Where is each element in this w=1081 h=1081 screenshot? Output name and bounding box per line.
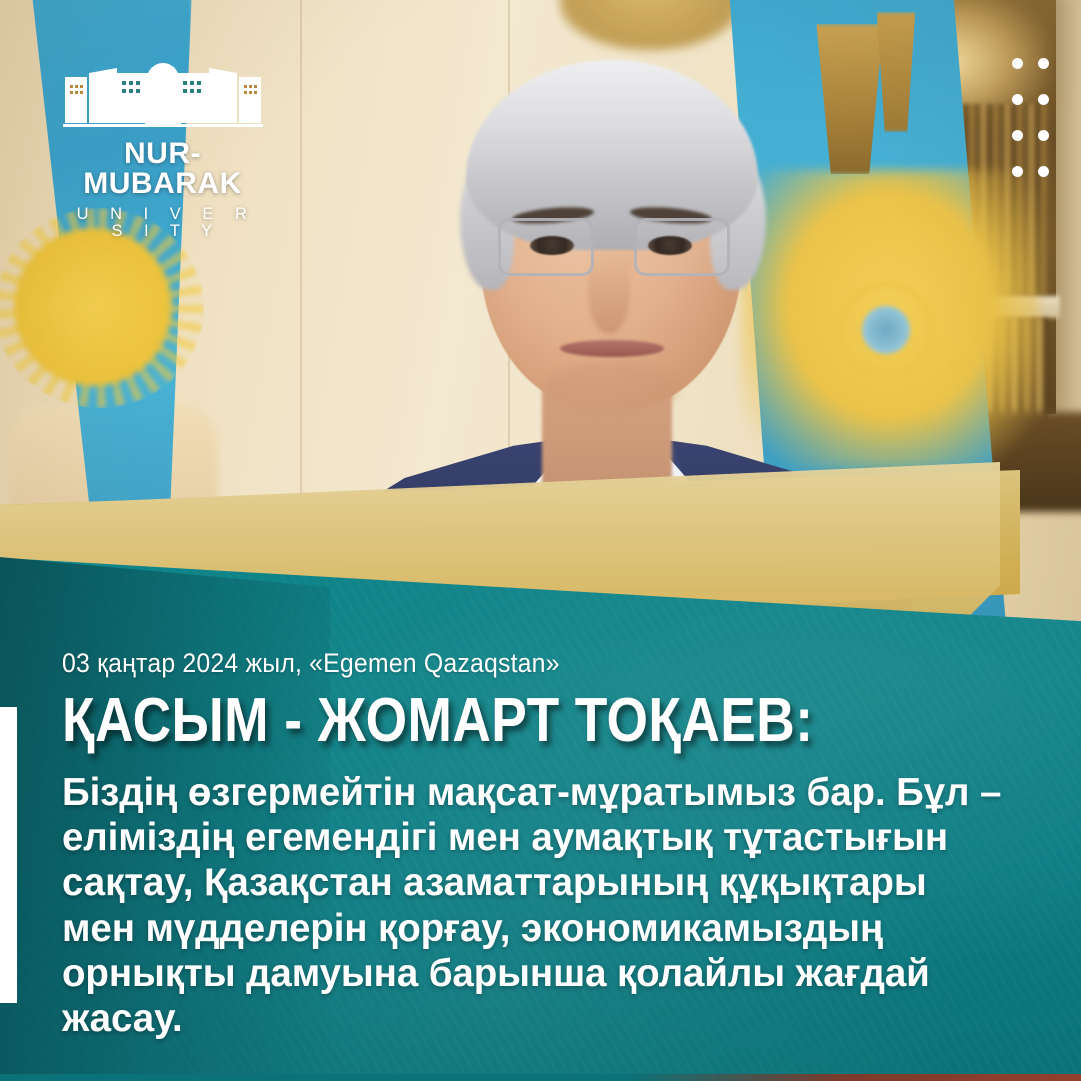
quote-line: жасау. xyxy=(62,996,1017,1041)
quote-line: еліміздің егемендігі мен аумақтық тұтаст… xyxy=(62,815,1017,860)
dot xyxy=(1038,130,1049,141)
quote-line: Біздің өзгермейтін мақсат-мұратымыз бар.… xyxy=(62,770,1017,815)
dot xyxy=(1038,94,1049,105)
dot xyxy=(1012,130,1023,141)
university-building-icon xyxy=(55,55,270,133)
speaker-name: ҚАСЫМ - ЖОМАРТ ТОҚАЕВ: xyxy=(62,690,922,752)
dot xyxy=(1038,166,1049,177)
logo-subtitle: U N I V E R S I T Y xyxy=(55,206,270,239)
quote-body: Біздің өзгермейтін мақсат-мұратымыз бар.… xyxy=(62,770,1017,1041)
bottom-accent-strip xyxy=(0,1074,1081,1081)
dot-grid-icon xyxy=(1012,58,1064,202)
dot xyxy=(1012,58,1023,69)
quote-card: NUR-MUBARAK U N I V E R S I T Y 03 қаңта… xyxy=(0,0,1081,1081)
dot xyxy=(1038,58,1049,69)
dot xyxy=(1012,94,1023,105)
university-logo[interactable]: NUR-MUBARAK U N I V E R S I T Y xyxy=(55,55,295,239)
logo-name: NUR-MUBARAK xyxy=(55,139,270,199)
quote-text-block: 03 қаңтар 2024 жыл, «Egemen Qazaqstan» Қ… xyxy=(62,650,1062,1041)
white-accent-bar xyxy=(0,707,17,1003)
dot xyxy=(1012,166,1023,177)
quote-line: орнықты дамуына барынша қолайлы жағдай xyxy=(62,951,1017,996)
quote-line: мен мүдделерін қорғау, экономикамыздың xyxy=(62,906,1017,951)
quote-line: сақтау, Қазақстан азаматтарының құқықтар… xyxy=(62,860,1017,905)
source-line: 03 қаңтар 2024 жыл, «Egemen Qazaqstan» xyxy=(62,650,982,677)
